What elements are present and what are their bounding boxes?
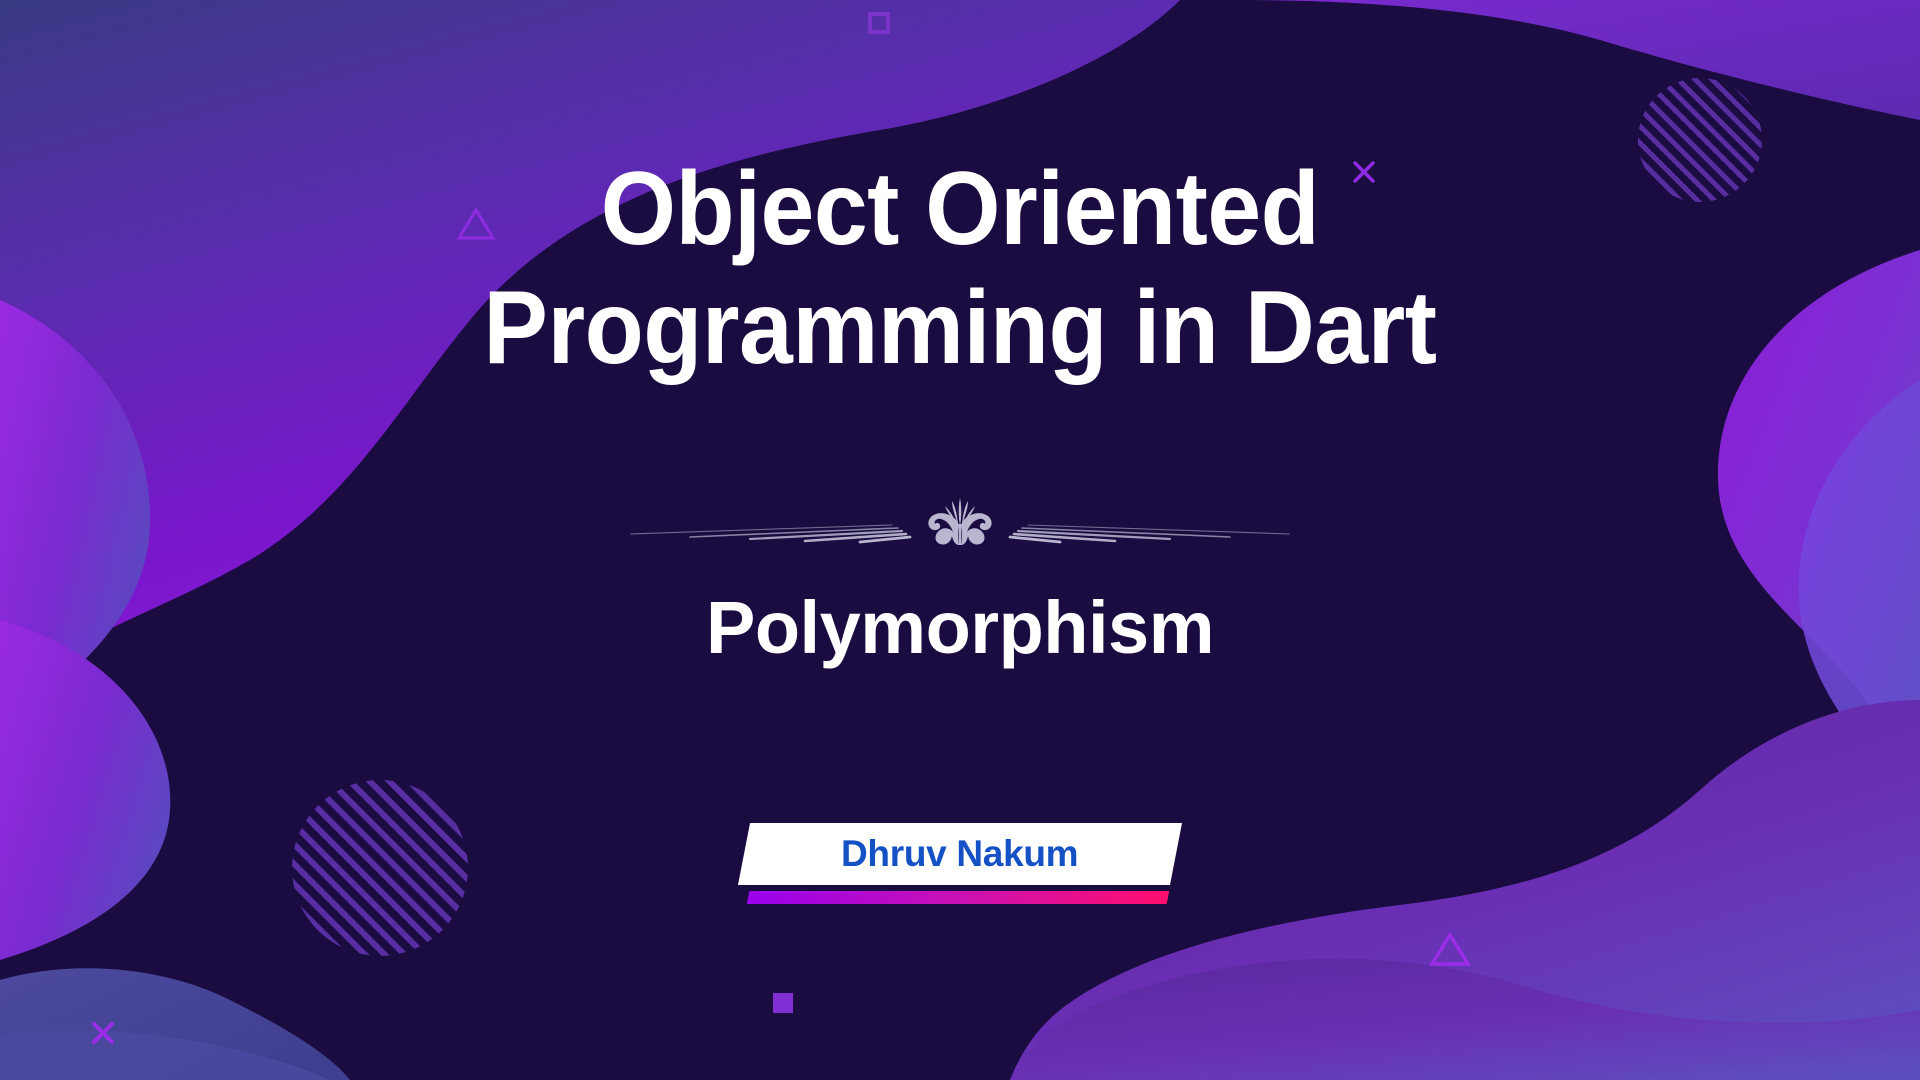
- ornamental-divider: [630, 482, 1290, 554]
- triangle-outline-bottom-right: [1428, 930, 1472, 975]
- slide-title: Object Oriented Programming in Dart: [0, 150, 1920, 387]
- author-badge: Dhruv Nakum: [744, 823, 1176, 904]
- striped-circle-bottom-left: [292, 780, 468, 956]
- square-filled-bottom: [770, 990, 796, 1021]
- divider-flourish-icon: [630, 482, 1290, 554]
- slide-subtitle: Polymorphism: [0, 585, 1920, 670]
- title-line-1: Object Oriented: [67, 150, 1853, 269]
- x-mark-bottom-left: [88, 1018, 118, 1053]
- author-name: Dhruv Nakum: [841, 833, 1078, 875]
- title-line-2: Programming in Dart: [67, 269, 1853, 388]
- author-badge-plate: Dhruv Nakum: [738, 823, 1182, 885]
- author-badge-gradient-bar: [747, 891, 1170, 904]
- square-outline-top: [866, 10, 892, 41]
- presentation-slide: Object Oriented Programming in Dart: [0, 0, 1920, 1080]
